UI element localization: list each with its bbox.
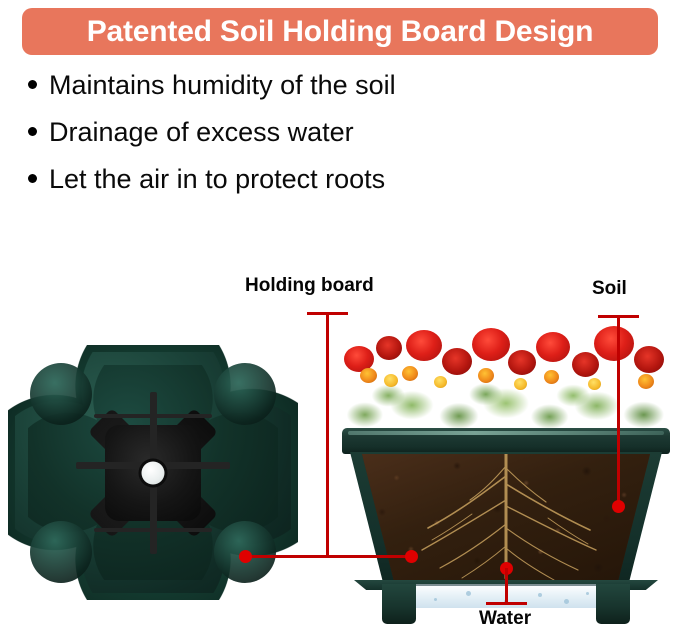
list-item: Drainage of excess water [28, 117, 588, 164]
bubble [434, 598, 437, 601]
leader-bar-water [486, 602, 527, 605]
pot-leg [596, 584, 630, 624]
flower-bloom [572, 352, 599, 377]
leader-dot-soil [612, 500, 625, 513]
leader-line-holding-board-horizontal [247, 555, 417, 558]
callout-label-holding-board: Holding board [245, 275, 374, 297]
pot-leg [382, 584, 416, 624]
flower-bloom [536, 332, 570, 362]
leader-dot-holding-board-left [239, 550, 252, 563]
flower-bloom [544, 370, 559, 384]
drainage-hole [142, 461, 165, 484]
bubble [466, 591, 471, 596]
callout-label-soil: Soil [592, 278, 627, 300]
bubble [564, 599, 569, 604]
leader-line-holding-board-vertical [326, 312, 329, 558]
product-feature-infographic: Patented Soil Holding Board Design Maint… [0, 0, 679, 638]
flower-bloom [360, 368, 377, 383]
flower-bloom [478, 368, 494, 383]
leader-dot-holding-board-right [405, 550, 418, 563]
diagram-figure: Holding board Soil Water [0, 250, 679, 638]
bullet-dot-icon [28, 80, 37, 89]
page-title: Patented Soil Holding Board Design [87, 15, 594, 49]
flower-bloom [634, 346, 664, 373]
clover-planter-top-view-image [8, 345, 298, 600]
flower-bloom [376, 336, 402, 360]
feature-bullet-list: Maintains humidity of the soil Drainage … [28, 70, 588, 211]
bubble [586, 592, 589, 595]
bullet-dot-icon [28, 127, 37, 136]
flower-bloom [594, 326, 634, 361]
chrysanthemum-flowers [338, 322, 674, 434]
header-banner: Patented Soil Holding Board Design [22, 8, 658, 55]
flower-bloom [402, 366, 418, 381]
board-rib [94, 414, 212, 418]
list-item-label: Maintains humidity of the soil [49, 70, 396, 101]
list-item: Maintains humidity of the soil [28, 70, 588, 117]
flower-bloom [514, 378, 527, 390]
board-rib [94, 528, 212, 532]
flower-bloom [384, 374, 398, 387]
bubble [538, 593, 542, 597]
flower-bloom [508, 350, 536, 375]
soil-holding-board [58, 378, 248, 568]
flower-bloom [472, 328, 510, 361]
flower-bloom [588, 378, 601, 390]
flower-bloom [406, 330, 442, 361]
list-item: Let the air in to protect roots [28, 164, 588, 211]
flower-bloom [638, 374, 654, 389]
leader-line-soil-vertical [617, 315, 620, 505]
flower-bloom [434, 376, 447, 388]
list-item-label: Drainage of excess water [49, 117, 354, 148]
flower-bloom [442, 348, 472, 375]
list-item-label: Let the air in to protect roots [49, 164, 385, 195]
callout-label-water: Water [479, 608, 531, 630]
leader-line-water-vertical [505, 568, 508, 604]
bullet-dot-icon [28, 174, 37, 183]
